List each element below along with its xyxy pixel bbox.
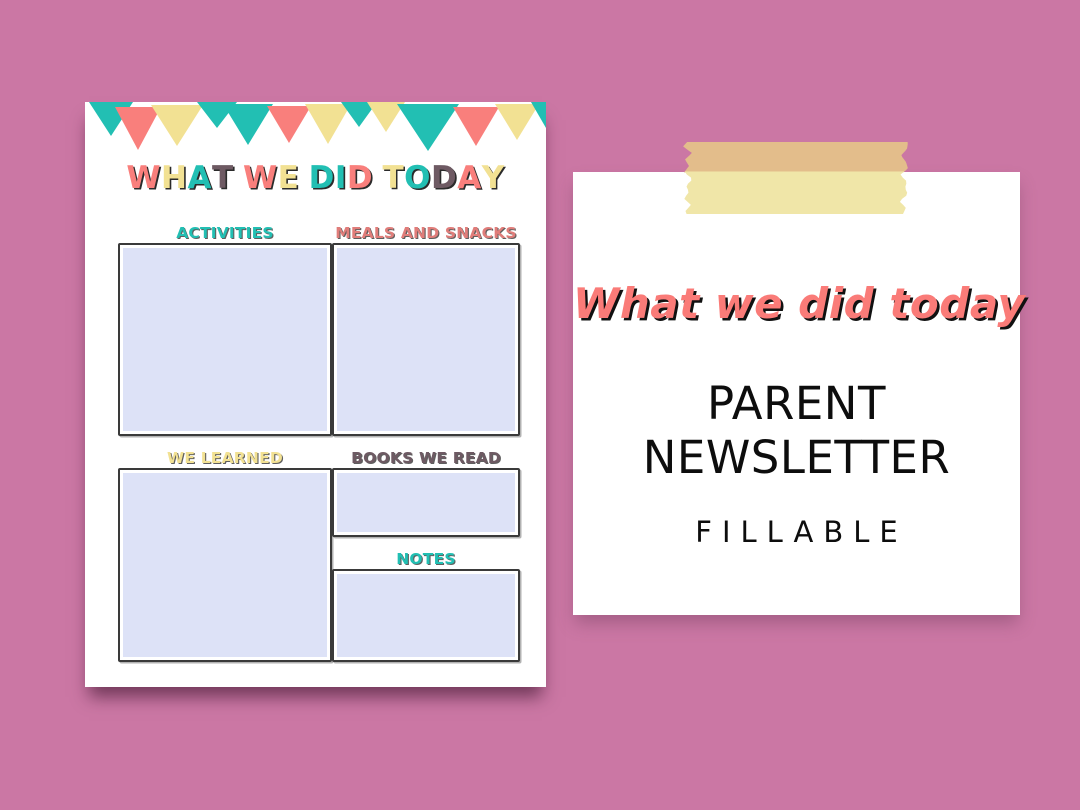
bunting-flag-6	[305, 104, 351, 144]
section-label-meals-and-snacks: MEALS AND SNACKS	[326, 224, 526, 242]
washi-tape	[682, 140, 910, 218]
what-we-did-today-printable-sheet: WHATWEDIDTODAY ACTIVITIESMEALS AND SNACK…	[85, 102, 546, 687]
field-fill-activities[interactable]	[123, 248, 327, 431]
field-box-notes[interactable]	[332, 569, 520, 662]
bunting-flag-1	[115, 107, 161, 150]
title-letter-e-6: E	[278, 160, 300, 196]
newsletter-script-title: What we did today	[573, 279, 1020, 328]
title-letter-i-9: I	[335, 160, 347, 196]
parent-newsletter-card: What we did today PARENT NEWSLETTER FILL…	[573, 172, 1020, 615]
field-fill-meals-and-snacks[interactable]	[337, 248, 515, 431]
section-label-books-we-read: BOOKS WE READ	[326, 449, 526, 467]
title-letter-h-1: H	[161, 160, 187, 196]
newsletter-heading-line-2: NEWSLETTER	[573, 431, 1020, 485]
field-box-we-learned[interactable]	[118, 468, 332, 662]
title-letter-a-15: A	[457, 160, 482, 196]
field-fill-books-we-read[interactable]	[337, 473, 515, 532]
title-letter-w-5: W	[243, 160, 278, 196]
field-box-meals-and-snacks[interactable]	[332, 243, 520, 436]
bunting-flag-2	[151, 105, 203, 146]
bunting-flag-11	[495, 104, 539, 140]
section-label-we-learned: WE LEARNED	[117, 449, 333, 467]
title-letter-w-0: W	[126, 160, 161, 196]
title-letter-t-3: T	[212, 160, 234, 196]
field-box-activities[interactable]	[118, 243, 332, 436]
title-letter-o-13: O	[404, 160, 431, 196]
field-fill-notes[interactable]	[337, 574, 515, 657]
title-letter-d-8: D	[309, 160, 335, 196]
field-box-books-we-read[interactable]	[332, 468, 520, 537]
washi-tape-upper-segment	[683, 142, 908, 173]
section-label-activities: ACTIVITIES	[117, 224, 333, 242]
title-letter-t-12: T	[382, 160, 404, 196]
title-letter-a-2: A	[188, 160, 213, 196]
title-letter-d-10: D	[347, 160, 373, 196]
title-letter-y-16: Y	[482, 160, 505, 196]
bunting-flag-4	[223, 104, 273, 145]
washi-tape-lower-segment	[684, 172, 907, 215]
printable-page-title: WHATWEDIDTODAY	[85, 160, 546, 196]
fillable-label: FILLABLE	[573, 515, 1020, 549]
section-label-notes: NOTES	[326, 550, 526, 568]
field-fill-we-learned[interactable]	[123, 473, 327, 657]
newsletter-heading: PARENT NEWSLETTER	[573, 377, 1020, 485]
bunting-banner	[85, 102, 546, 157]
bunting-flag-10	[453, 107, 499, 146]
newsletter-heading-line-1: PARENT	[573, 377, 1020, 431]
title-letter-d-14: D	[431, 160, 457, 196]
bunting-flag-5	[267, 106, 311, 143]
bunting-flag-9	[397, 104, 459, 151]
